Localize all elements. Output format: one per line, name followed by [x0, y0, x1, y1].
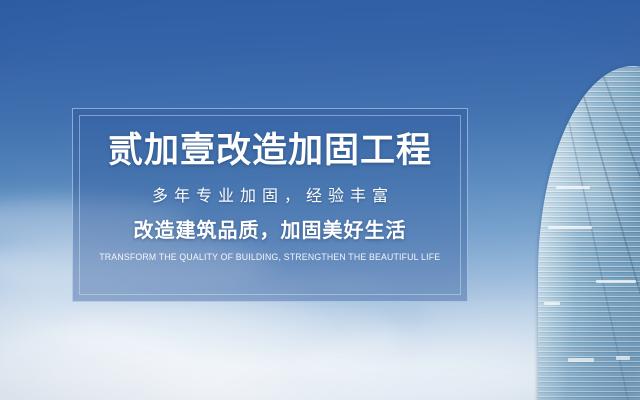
english-subline-text: TRANSFORM THE QUALITY OF BUILDING, STREN… [100, 252, 441, 263]
skyscraper-window-highlight [596, 280, 636, 283]
skyscraper-window-highlight [616, 356, 630, 360]
skyscraper-photo [520, 0, 640, 400]
tagline-text: 多年专业加固，经验丰富 [146, 187, 394, 206]
hero-banner: 贰加壹改造加固工程 多年专业加固，经验丰富 改造建筑品质，加固美好生活 TRAN… [0, 0, 640, 400]
skyscraper-window-highlight [548, 226, 592, 229]
skyscraper-window-highlight [568, 358, 594, 362]
skyscraper-shading [538, 66, 640, 400]
headline-title: 贰加壹改造加固工程 [108, 132, 432, 170]
panel-content: 贰加壹改造加固工程 多年专业加固，经验丰富 改造建筑品质，加固美好生活 TRAN… [73, 109, 467, 301]
hero-text-panel: 贰加壹改造加固工程 多年专业加固，经验丰富 改造建筑品质，加固美好生活 TRAN… [72, 108, 468, 302]
skyscraper-window-highlight [544, 302, 560, 305]
slogan-text: 改造建筑品质，加固美好生活 [134, 219, 407, 243]
skyscraper-body [538, 66, 640, 400]
skyscraper-window-highlight [556, 186, 590, 189]
